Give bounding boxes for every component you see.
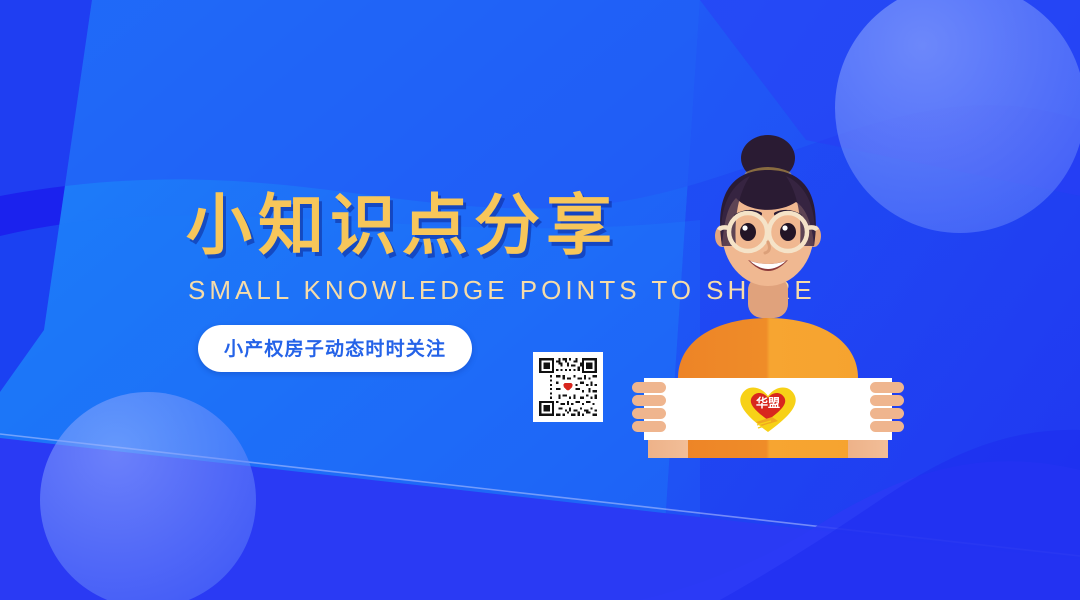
left-eye [740,223,756,241]
woman-illustration: 华盟 [618,128,918,458]
headline-group: 小知识点分享 SMALL KNOWLEDGE POINTS TO SHARE 小… [186,190,656,372]
qr-code[interactable] [533,352,603,422]
page-subtitle: SMALL KNOWLEDGE POINTS TO SHARE [188,277,656,303]
promo-banner: 小知识点分享 SMALL KNOWLEDGE POINTS TO SHARE 小… [0,0,1080,600]
right-eye [780,223,796,241]
qr-center-logo [561,380,576,395]
cta-pill-button[interactable]: 小产权房子动态时时关注 [198,325,472,372]
page-title: 小知识点分享 [186,190,656,261]
decorative-circle-bottom-left [40,392,256,600]
logo-text: 华盟 [756,395,780,410]
